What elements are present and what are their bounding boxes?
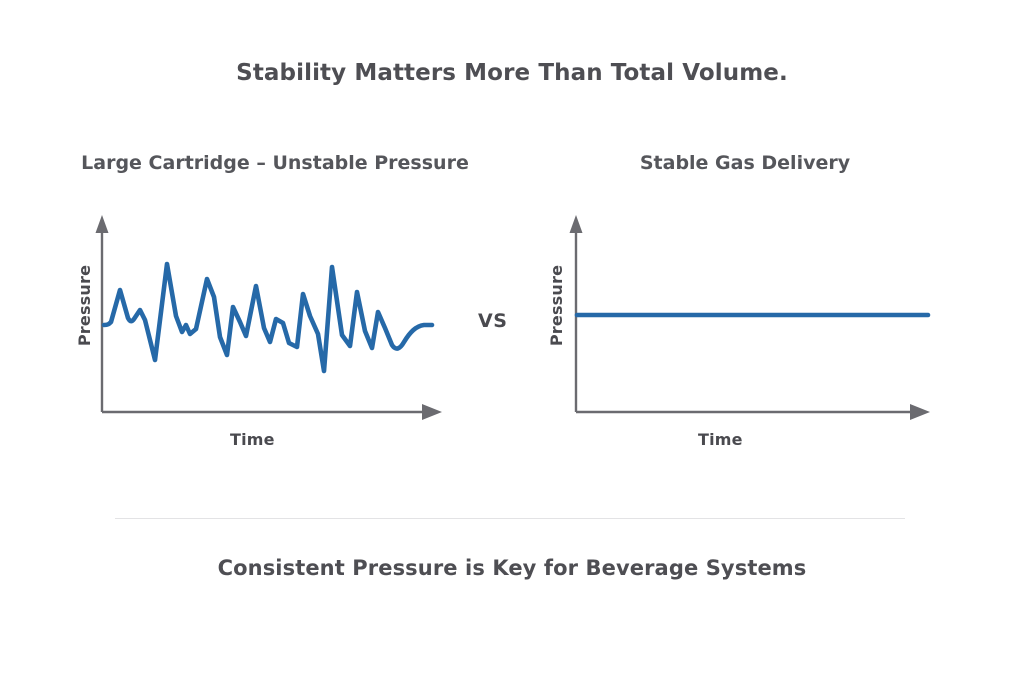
section-divider	[115, 518, 905, 519]
x-axis-right	[576, 404, 930, 420]
y-axis-left	[96, 215, 109, 412]
x-axis-label-time-left: Time	[230, 430, 275, 449]
panel-unstable-pressure: Large Cartridge – Unstable Pressure Pres…	[60, 150, 490, 427]
footer-caption: Consistent Pressure is Key for Beverage …	[0, 556, 1024, 580]
stable-plot-svg	[530, 212, 950, 427]
page-title: Stability Matters More Than Total Volume…	[0, 60, 1024, 86]
x-axis-left	[102, 404, 442, 420]
chart-unstable-pressure: Pressure Time	[60, 212, 490, 427]
panel-title-stable: Stable Gas Delivery	[530, 150, 960, 176]
panel-stable-delivery: Stable Gas Delivery Pressure Time	[530, 150, 960, 427]
chart-stable-delivery: Pressure Time	[530, 212, 960, 427]
panel-title-unstable: Large Cartridge – Unstable Pressure	[60, 150, 490, 176]
x-axis-label-time-right: Time	[698, 430, 743, 449]
vs-comparator-label: VS	[478, 310, 507, 332]
unstable-plot-svg	[60, 212, 480, 427]
unstable-pressure-trace	[104, 264, 432, 371]
